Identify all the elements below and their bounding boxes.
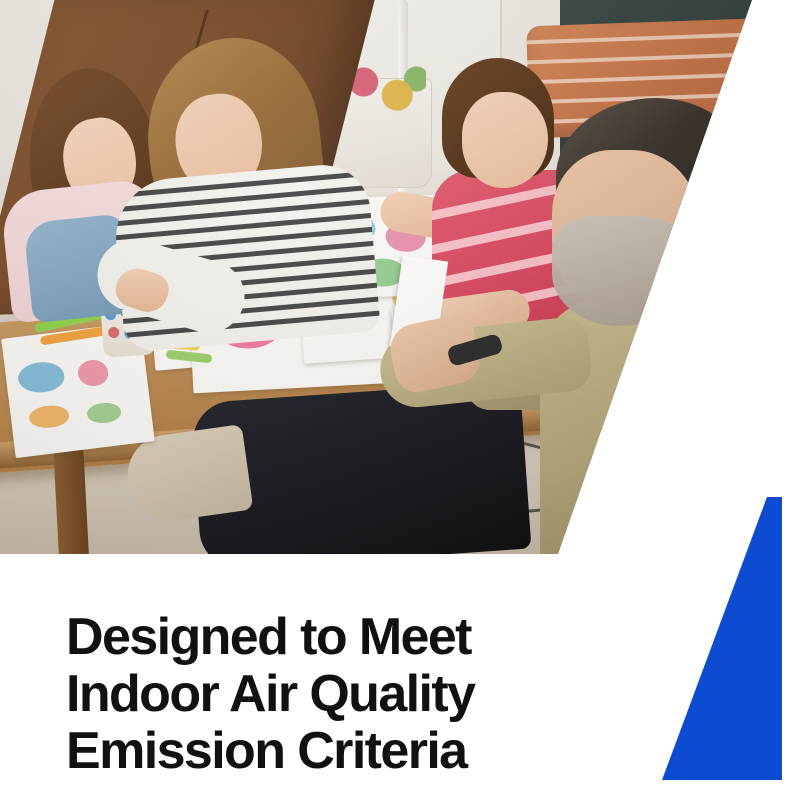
headline-line-3: Emission Criteria <box>66 723 586 780</box>
headline-line-2: Indoor Air Quality <box>66 666 586 723</box>
blue-angled-wedge <box>655 490 800 782</box>
page-title: Designed to Meet Indoor Air Quality Emis… <box>66 609 586 780</box>
promo-banner: Designed to Meet Indoor Air Quality Emis… <box>0 0 800 800</box>
boy-face <box>462 92 548 188</box>
wedge-shape <box>662 497 782 780</box>
man-beard <box>552 216 692 326</box>
headline-line-1: Designed to Meet <box>66 609 586 666</box>
table-leg <box>53 439 89 554</box>
lifestyle-photo <box>0 0 800 554</box>
